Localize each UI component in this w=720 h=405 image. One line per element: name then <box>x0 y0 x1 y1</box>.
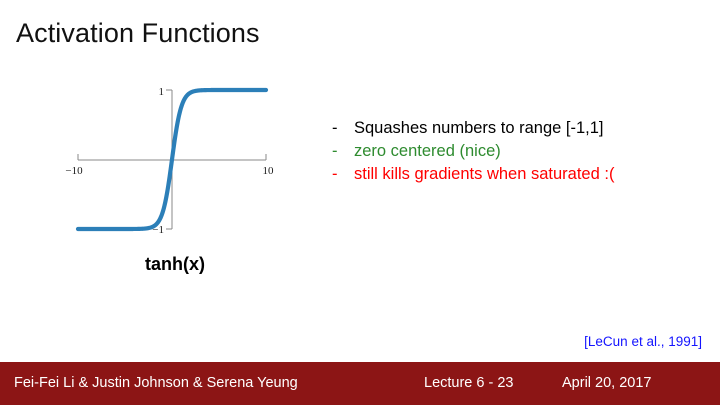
x-tick-label-min: −10 <box>65 165 83 177</box>
bullet-marker: - <box>332 163 354 186</box>
footer-authors: Fei-Fei Li & Justin Johnson & Serena Yeu… <box>14 362 298 405</box>
y-tick-label-top: 1 <box>159 86 165 98</box>
bullet-text: Squashes numbers to range [-1,1] <box>354 117 708 140</box>
tanh-chart: −10 10 1 −1 <box>60 78 290 243</box>
page-title: Activation Functions <box>16 16 260 50</box>
figure-caption: tanh(x) <box>60 254 290 275</box>
bullet-marker: - <box>332 140 354 163</box>
bullet-marker: - <box>332 117 354 140</box>
footer-lecture-number: Lecture 6 - 23 <box>424 362 513 405</box>
footer-bar: Fei-Fei Li & Justin Johnson & Serena Yeu… <box>0 362 720 405</box>
tanh-figure: −10 10 1 −1 tanh(x) <box>60 78 290 278</box>
list-item: - still kills gradients when saturated :… <box>332 163 708 186</box>
bullet-text: still kills gradients when saturated :( <box>354 163 708 186</box>
bullet-list: - Squashes numbers to range [-1,1] - zer… <box>332 117 708 186</box>
list-item: - zero centered (nice) <box>332 140 708 163</box>
bullet-text: zero centered (nice) <box>354 140 708 163</box>
list-item: - Squashes numbers to range [-1,1] <box>332 117 708 140</box>
citation-link[interactable]: [LeCun et al., 1991] <box>584 334 702 349</box>
x-tick-label-max: 10 <box>263 165 275 177</box>
footer-date: April 20, 2017 <box>562 362 651 405</box>
